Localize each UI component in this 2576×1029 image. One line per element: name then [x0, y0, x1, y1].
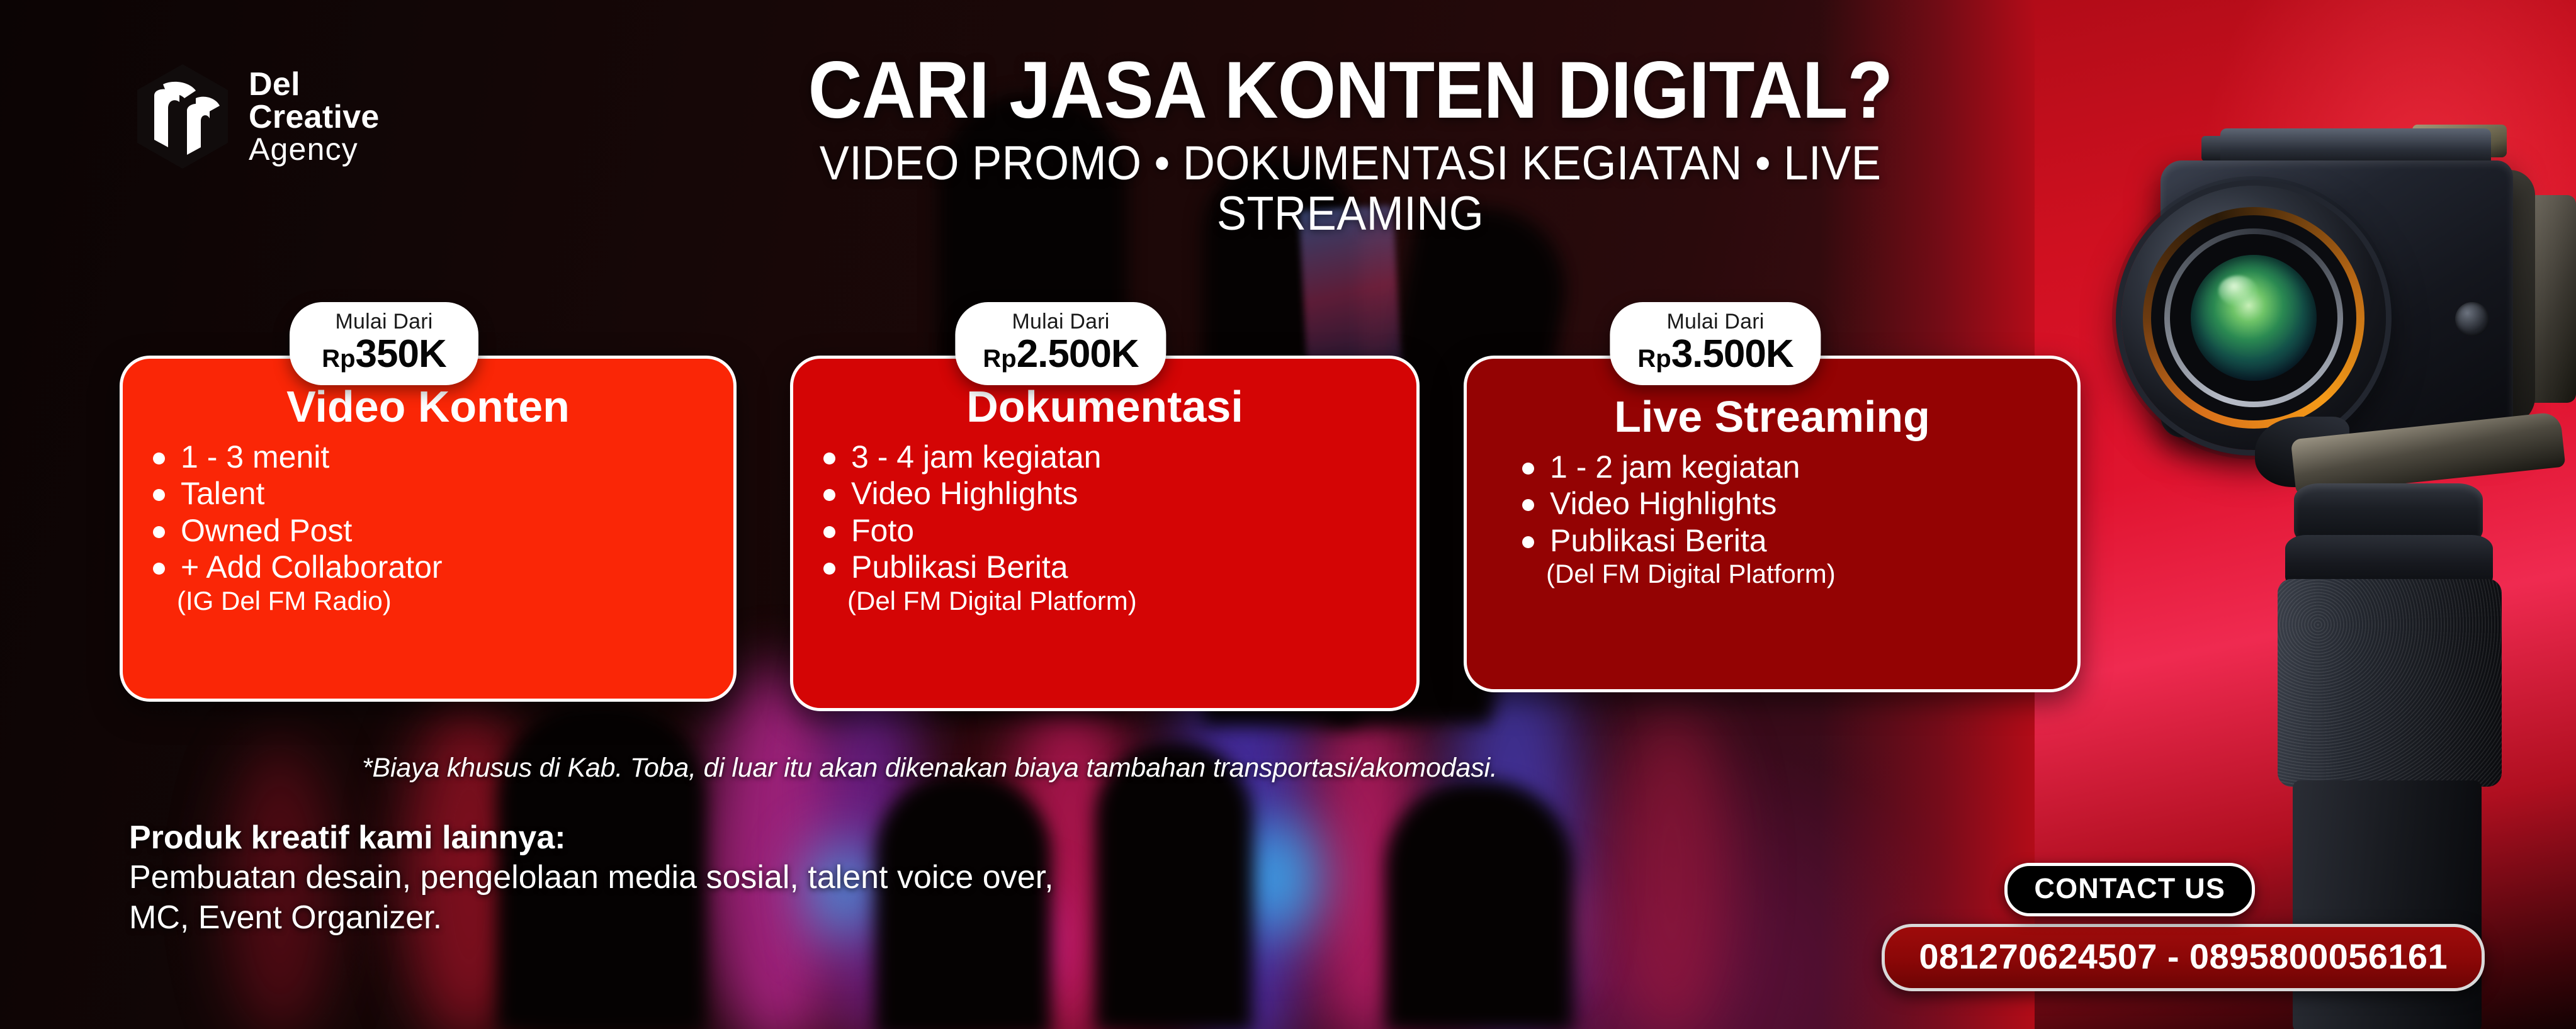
price-value: 2.500K [1017, 332, 1139, 376]
phone-numbers-pill[interactable]: 081270624507 - 0895800056161 [1882, 924, 2485, 991]
card-body: Live Streaming 1 - 2 jam kegiatan Video … [1464, 356, 2081, 692]
other-products-title: Produk kreatif kami lainnya: [129, 818, 1577, 858]
other-products-line-2: MC, Event Organizer. [129, 898, 1577, 938]
badge-label: Mulai Dari [317, 311, 451, 334]
card-body: Dokumentasi 3 - 4 jam kegiatan Video Hig… [790, 356, 1420, 711]
list-item: Video Highlights [1520, 485, 2050, 522]
camera-lens-glass [2191, 255, 2317, 381]
currency-symbol: Rp [322, 345, 355, 373]
list-item: Publikasi Berita(Del FM Digital Platform… [1520, 522, 2050, 589]
page-title: CARI JASA KONTEN DIGITAL? [686, 50, 2014, 131]
other-products-block: Produk kreatif kami lainnya: Pembuatan d… [129, 818, 1577, 938]
package-cards-row: Mulai Dari Rp350K Video Konten 1 - 3 men… [0, 302, 2128, 730]
page-subtitle: VIDEO PROMO • DOKUMENTASI KEGIATAN • LIV… [686, 138, 2014, 239]
feature-list: 1 - 3 menit Talent Owned Post + Add Coll… [150, 439, 706, 616]
brand-logo: Del Creative Agency [135, 63, 380, 170]
logo-line-2: Creative [249, 101, 380, 133]
card-title: Video Konten [150, 384, 706, 430]
other-products-line-1: Pembuatan desain, pengelolaan media sosi… [129, 858, 1577, 897]
price-badge: Mulai Dari Rp350K [290, 302, 478, 385]
list-item: 1 - 3 menit [150, 439, 706, 476]
badge-price: Rp2.500K [983, 335, 1138, 374]
price-value: 3.500K [1671, 332, 1794, 376]
list-item: 1 - 2 jam kegiatan [1520, 449, 2050, 486]
pricing-footnote: *Biaya khusus di Kab. Toba, di luar itu … [362, 753, 2062, 784]
badge-label: Mulai Dari [1637, 311, 1793, 334]
list-item: 3 - 4 jam kegiatan [821, 439, 1389, 476]
list-item: Owned Post [150, 512, 706, 549]
tripod-grip [2278, 579, 2502, 787]
promo-banner: Del Creative Agency CARI JASA KONTEN DIG… [0, 0, 2576, 1029]
card-title: Dokumentasi [821, 384, 1389, 430]
currency-symbol: Rp [1637, 345, 1671, 373]
logo-line-3: Agency [249, 133, 380, 165]
currency-symbol: Rp [983, 345, 1016, 373]
headline-block: CARI JASA KONTEN DIGITAL? VIDEO PROMO • … [636, 50, 2065, 239]
list-item: Video Highlights [821, 475, 1389, 512]
list-item: Publikasi Berita(Del FM Digital Platform… [821, 549, 1389, 616]
list-item: Foto [821, 512, 1389, 549]
list-item: Talent [150, 475, 706, 512]
badge-price: Rp350K [317, 335, 451, 374]
camera-dial-icon [2455, 302, 2489, 336]
price-badge: Mulai Dari Rp2.500K [955, 302, 1166, 385]
price-badge: Mulai Dari Rp3.500K [1610, 302, 1821, 385]
contact-us-label: CONTACT US [2034, 872, 2225, 904]
badge-price: Rp3.500K [1637, 335, 1793, 374]
card-title: Live Streaming [1494, 394, 2050, 440]
phone-numbers: 081270624507 - 0895800056161 [1919, 936, 2448, 976]
del-creative-hexagon-monogram-icon [135, 63, 230, 170]
badge-label: Mulai Dari [983, 311, 1138, 334]
logo-line-1: Del [249, 68, 380, 101]
contact-us-badge[interactable]: CONTACT US [2004, 863, 2255, 916]
price-value: 350K [356, 332, 446, 376]
card-body: Video Konten 1 - 3 menit Talent Owned Po… [120, 356, 737, 702]
feature-list: 1 - 2 jam kegiatan Video Highlights Publ… [1494, 449, 2050, 589]
contact-block: CONTACT US 081270624507 - 0895800056161 [1882, 863, 2485, 991]
feature-list: 3 - 4 jam kegiatan Video Highlights Foto… [821, 439, 1389, 616]
list-item: + Add Collaborator(IG Del FM Radio) [150, 549, 706, 616]
